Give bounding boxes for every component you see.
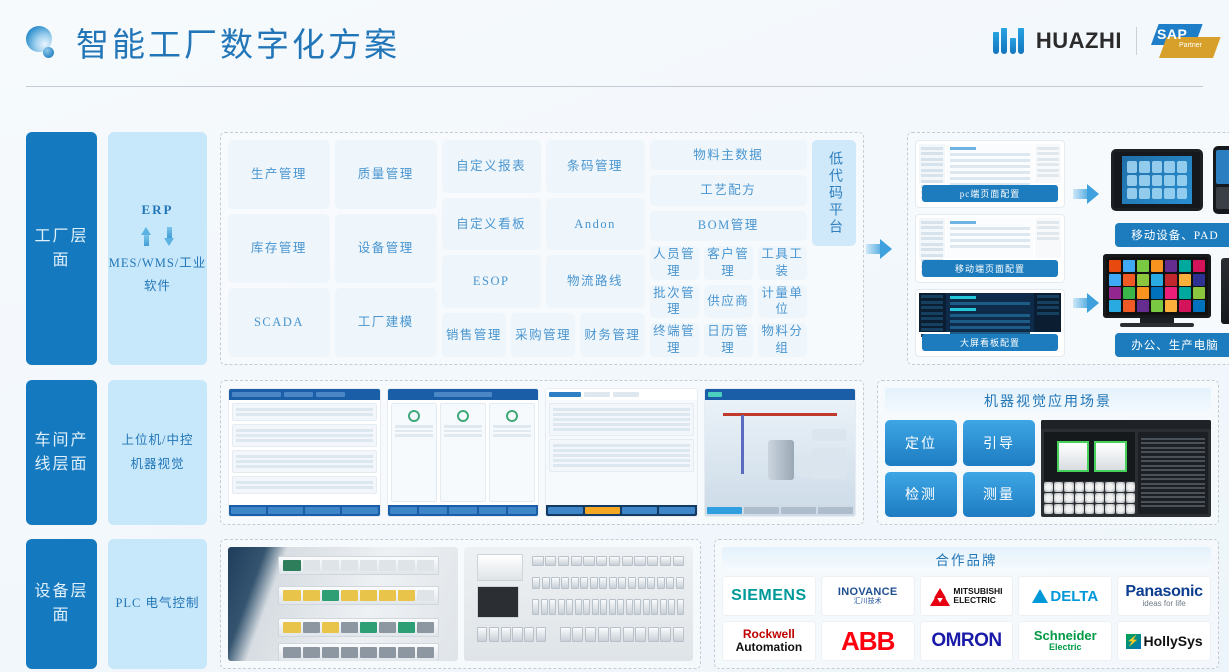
brands-panel-title: 合作品牌 <box>722 547 1211 571</box>
brand-rockwell: Rockwell Automation <box>722 621 816 661</box>
module-tile[interactable]: 工艺配方 <box>650 175 808 205</box>
module-tile[interactable]: 自定义报表 <box>442 140 541 193</box>
module-tile[interactable]: 批次管理 <box>650 285 699 319</box>
brand-delta: DELTA <box>1018 576 1112 616</box>
vision-software-screenshot[interactable] <box>1041 420 1211 517</box>
module-tile[interactable]: 供应商 <box>704 285 753 319</box>
vision-button-locate[interactable]: 定位 <box>885 420 957 466</box>
brand-abb: ABB <box>821 621 915 661</box>
device-target-pc: 办公、生产电脑 <box>1103 251 1229 358</box>
machine-vision-label: 机器视觉 <box>130 453 184 477</box>
module-tile[interactable]: 采购管理 <box>511 313 575 357</box>
device-target-label: 移动设备、PAD <box>1115 223 1229 247</box>
vision-button-guide[interactable]: 引导 <box>963 420 1035 466</box>
device-arrows-column <box>1071 140 1097 357</box>
factory-level-row: 工厂层面 ERP MES/WMS/工业软件 生产管理 质量管理 库存管理 设备管… <box>26 132 1219 365</box>
page-header: 智能工厂数字化方案 HUAZHI SAP Partner <box>0 0 1229 88</box>
module-tile[interactable]: 计量单位 <box>758 285 807 319</box>
module-tile[interactable]: 物流路线 <box>546 255 645 308</box>
module-tile[interactable]: 质量管理 <box>335 140 437 209</box>
module-tile[interactable]: 工具工装 <box>758 246 807 280</box>
flow-arrow-icon <box>864 132 894 365</box>
brand-sublabel: Automation <box>736 641 803 654</box>
pda-scanner-icon <box>1213 146 1229 214</box>
layer-tag-equipment: 设备层面 <box>26 539 97 669</box>
module-tile[interactable]: 销售管理 <box>442 313 506 357</box>
logo-divider <box>1136 27 1137 55</box>
brand-label: SIEMENS <box>731 587 807 605</box>
module-tile[interactable]: 财务管理 <box>580 313 644 357</box>
device-target-label: 办公、生产电脑 <box>1115 333 1229 357</box>
module-tile[interactable]: 库存管理 <box>228 214 330 283</box>
erp-label: ERP <box>142 198 174 223</box>
hmi-screenshot-process-3d[interactable] <box>704 388 857 517</box>
tablet-icon <box>1111 149 1203 211</box>
brand-panasonic: Panasonic ideas for life <box>1117 576 1211 616</box>
module-tile[interactable]: 自定义看板 <box>442 198 541 251</box>
brand-label: ABB <box>841 626 894 657</box>
logo-group: HUAZHI SAP Partner <box>993 24 1213 58</box>
module-tile[interactable]: 工厂建模 <box>335 288 437 357</box>
photo-plc-rack <box>228 547 458 661</box>
brand-schneider: Schneider Electric <box>1018 621 1112 661</box>
sphere-icon <box>26 26 58 58</box>
module-tile[interactable]: 人员管理 <box>650 246 699 280</box>
vision-button-measure[interactable]: 测量 <box>963 472 1035 518</box>
title-group: 智能工厂数字化方案 <box>26 18 400 66</box>
module-tile[interactable]: 日历管理 <box>704 323 753 357</box>
delta-triangle-icon <box>1032 589 1048 603</box>
mes-wms-label: MES/WMS/工业软件 <box>108 252 207 300</box>
brand-inovance: INOVANCE 汇川技术 <box>821 576 915 616</box>
brand-label: HollySys <box>1144 633 1203 649</box>
module-tile[interactable]: 客户管理 <box>704 246 753 280</box>
diagram-board: 工厂层面 ERP MES/WMS/工业软件 生产管理 质量管理 库存管理 设备管… <box>0 94 1229 672</box>
brand-sublabel: Electric <box>1034 643 1097 652</box>
module-tile[interactable]: SCADA <box>228 288 330 357</box>
huazhi-wordmark: HUAZHI <box>1036 28 1122 54</box>
brand-sublabel: 汇川技术 <box>838 598 898 606</box>
vision-button-inspect[interactable]: 检测 <box>885 472 957 518</box>
module-tile[interactable]: 生产管理 <box>228 140 330 209</box>
module-column-c: 物料主数据 工艺配方 BOM管理 人员管理 客户管理 工具工装 批次管理 供应商… <box>650 140 808 357</box>
config-caption: 移动端页面配置 <box>922 260 1058 277</box>
monitor-tower-illustration <box>1103 251 1229 332</box>
sap-partner-label: Partner <box>1179 42 1202 49</box>
brand-siemens: SIEMENS <box>722 576 816 616</box>
hollysys-mark-icon: ⚡ <box>1126 634 1141 649</box>
module-tile[interactable]: Andon <box>546 198 645 251</box>
hmi-screenshots-panel <box>220 380 864 525</box>
plc-label: PLC 电气控制 <box>115 592 199 616</box>
layer-sub-workshop: 上位机/中控 机器视觉 <box>108 380 207 525</box>
equipment-level-row: 设备层面 PLC 电气控制 合作品牌 <box>26 539 1219 669</box>
photo-control-cabinet <box>464 547 694 661</box>
config-screenshot-mobile[interactable]: 移动端页面配置 <box>915 214 1065 282</box>
layer-tag-workshop: 车间产线层面 <box>26 380 97 525</box>
layer-sub-equipment: PLC 电气控制 <box>108 539 207 669</box>
config-screenshot-dashboard[interactable]: 大屏看板配置 <box>915 289 1065 357</box>
hmi-screenshot-machines[interactable] <box>387 388 540 517</box>
brand-label: OMRON <box>931 630 1001 652</box>
module-tile[interactable]: 设备管理 <box>335 214 437 283</box>
brand-sublabel: ideas for life <box>1125 600 1202 609</box>
lowcode-platform-tile[interactable]: 低代码平台 <box>812 140 856 246</box>
module-tile[interactable]: 终端管理 <box>650 323 699 357</box>
module-tile[interactable]: 物料分组 <box>758 323 807 357</box>
module-tile[interactable]: 条码管理 <box>546 140 645 193</box>
vision-panel-title: 机器视觉应用场景 <box>885 388 1211 414</box>
vision-panel-body: 定位 引导 检测 测量 <box>885 420 1211 517</box>
module-tile[interactable]: 物料主数据 <box>650 140 808 170</box>
vision-buttons-group: 定位 引导 检测 测量 <box>885 420 1035 517</box>
huazhi-logo: HUAZHI <box>993 28 1122 54</box>
brand-label: DELTA <box>1050 588 1098 605</box>
scada-label: 上位机/中控 <box>122 429 194 453</box>
monitor-icon <box>1103 254 1211 327</box>
brand-sublabel: ELECTRIC <box>953 595 996 605</box>
layer-tag-factory: 工厂层面 <box>26 132 97 365</box>
machine-vision-panel: 机器视觉应用场景 定位 引导 检测 测量 <box>877 380 1219 525</box>
page-title: 智能工厂数字化方案 <box>76 18 400 66</box>
brand-label: Panasonic <box>1125 583 1202 601</box>
device-arrow-icon <box>1071 293 1101 313</box>
equipment-photos-panel <box>220 539 701 669</box>
updown-arrows-icon <box>141 227 175 246</box>
sap-wordmark: SAP <box>1157 26 1187 42</box>
sap-partner-logo: SAP Partner <box>1151 24 1213 58</box>
device-target-mobile: 移动设备、PAD <box>1103 140 1229 247</box>
brand-hollysys: ⚡ HollySys <box>1117 621 1211 661</box>
hmi-screenshot-form[interactable] <box>228 388 381 517</box>
partner-brands-panel: 合作品牌 SIEMENS INOVANCE 汇川技术 MITSUBISHI <box>714 539 1219 669</box>
huazhi-mark-icon <box>993 28 1027 54</box>
module-column-a: 生产管理 质量管理 库存管理 设备管理 SCADA 工厂建模 <box>228 140 437 357</box>
workshop-level-row: 车间产线层面 上位机/中控 机器视觉 <box>26 380 1219 525</box>
config-caption: pc端页面配置 <box>922 185 1058 202</box>
header-divider <box>26 86 1203 87</box>
hmi-screenshot-table[interactable] <box>545 388 698 517</box>
brand-label: Schneider <box>1034 629 1097 643</box>
tablet-pda-illustration <box>1103 140 1229 221</box>
device-targets-column: 移动设备、PAD <box>1103 140 1229 357</box>
module-column-b: 自定义报表 条码管理 自定义看板 Andon ESOP 物流路线 销售管理 采购… <box>442 140 645 357</box>
brand-mitsubishi: MITSUBISHI ELECTRIC <box>920 576 1014 616</box>
module-tile[interactable]: ESOP <box>442 255 541 308</box>
erp-module-panel: 生产管理 质量管理 库存管理 设备管理 SCADA 工厂建模 自定义报表 条码管… <box>220 132 864 365</box>
config-screenshot-pc[interactable]: pc端页面配置 <box>915 140 1065 208</box>
device-deployment-panel: pc端页面配置 移动端页面配置 大屏看板配置 <box>907 132 1229 365</box>
layer-sub-factory: ERP MES/WMS/工业软件 <box>108 132 207 365</box>
module-tile[interactable]: BOM管理 <box>650 211 808 241</box>
brands-grid: SIEMENS INOVANCE 汇川技术 MITSUBISHI ELECTRI… <box>722 576 1211 661</box>
brand-label: INOVANCE <box>838 586 898 598</box>
config-screens-column: pc端页面配置 移动端页面配置 大屏看板配置 <box>915 140 1065 357</box>
brand-omron: OMRON <box>920 621 1014 661</box>
device-arrow-icon <box>1071 184 1101 204</box>
pc-tower-icon <box>1221 258 1229 324</box>
config-caption: 大屏看板配置 <box>922 334 1058 351</box>
mitsubishi-diamond-icon <box>930 588 950 605</box>
